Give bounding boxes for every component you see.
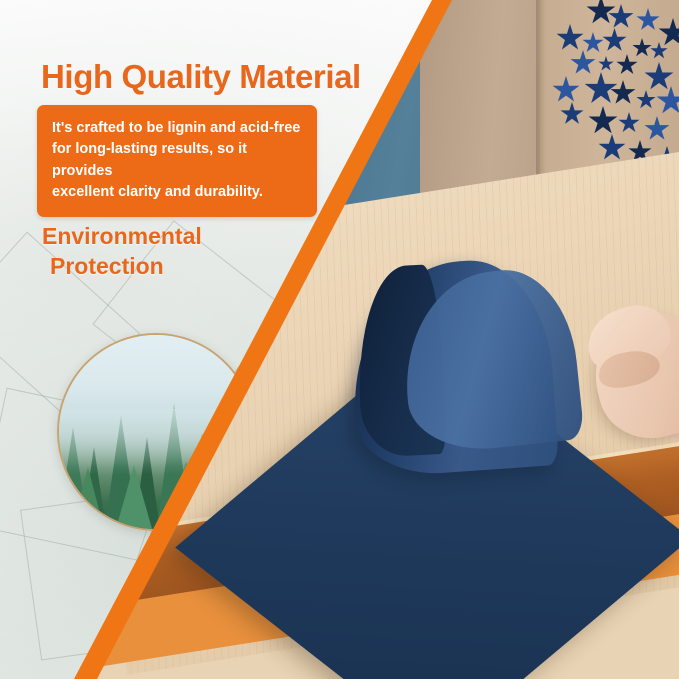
feature-label-line-1: Environmental bbox=[42, 222, 202, 252]
feature-label-line-2: Protection bbox=[42, 252, 202, 282]
product-feature-infographic: High Quality Material It's crafted to be… bbox=[0, 0, 679, 679]
description-line-1: It's crafted to be lignin and acid-free bbox=[52, 118, 303, 139]
feature-label: Environmental Protection bbox=[42, 222, 202, 282]
description-line-3: excellent clarity and durability. bbox=[52, 182, 303, 203]
description-line-2: for long-lasting results, so it provides bbox=[52, 139, 303, 182]
page-title: High Quality Material bbox=[41, 58, 361, 96]
description-box: It's crafted to be lignin and acid-free … bbox=[37, 105, 317, 217]
